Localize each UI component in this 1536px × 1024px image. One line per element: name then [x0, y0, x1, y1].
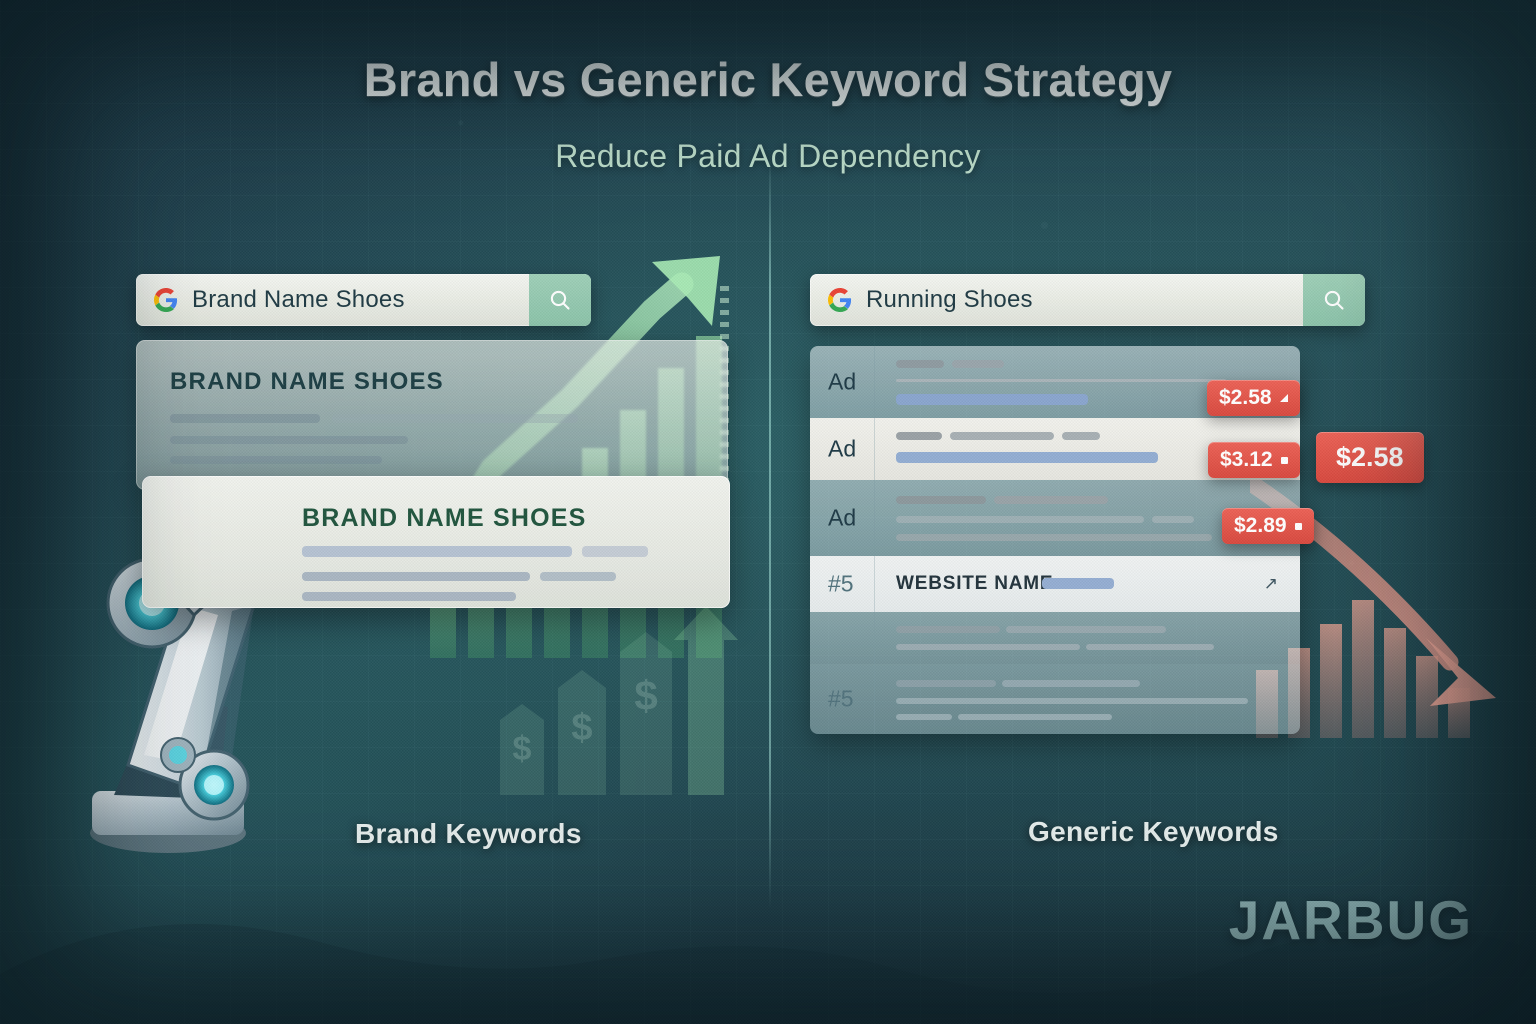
serp-row-tag: Ad [828, 505, 856, 532]
svg-text:$: $ [513, 730, 532, 768]
skeleton-line [302, 572, 530, 581]
serp-row-tag: #5 [828, 686, 854, 713]
floating-price-badge: $2.58 [1316, 432, 1424, 483]
skeleton-line [896, 379, 1226, 382]
trend-triangle-icon [1280, 394, 1288, 402]
skeleton-line [170, 436, 408, 444]
trend-dot-icon [1295, 523, 1302, 530]
row-divider [874, 418, 875, 480]
skeleton-line [896, 516, 1144, 523]
row-divider [874, 556, 875, 612]
skeleton-line [302, 592, 516, 601]
price-value: $2.58 [1219, 386, 1272, 410]
google-logo-icon [154, 288, 178, 312]
skeleton-line [1062, 432, 1100, 440]
row-divider [874, 612, 875, 664]
trend-dot-icon [1281, 457, 1288, 464]
skeleton-line [950, 432, 1054, 440]
generic-keywords-label: Generic Keywords [1028, 816, 1279, 848]
brand-result-title-2: BRAND NAME SHOES [302, 504, 587, 533]
page-subtitle: Reduce Paid Ad Dependency [0, 138, 1536, 175]
price-value: $2.58 [1336, 442, 1404, 473]
google-logo-icon [828, 288, 852, 312]
skeleton-line [896, 496, 986, 504]
skeleton-line [896, 452, 1158, 463]
brand-result-card-2[interactable]: BRAND NAME SHOES [142, 476, 730, 608]
generic-search-button[interactable] [1303, 274, 1365, 326]
skeleton-line [896, 644, 1080, 650]
skeleton-line [1086, 644, 1214, 650]
skeleton-line [896, 432, 942, 440]
svg-text:$: $ [571, 707, 592, 749]
skeleton-line [170, 456, 382, 464]
skeleton-line [1042, 578, 1114, 589]
skeleton-line [896, 680, 996, 687]
price-badge-ad-2: $3.12 [1208, 442, 1300, 478]
serp-row-tag: Ad [828, 436, 856, 463]
skeleton-line [994, 496, 1108, 504]
skeleton-line [952, 360, 1004, 368]
ad-spend-chart-decoration: $ $ $ [460, 600, 760, 800]
brand-search-bar[interactable]: Brand Name Shoes [136, 274, 591, 326]
page-title: Brand vs Generic Keyword Strategy [0, 52, 1536, 107]
row-divider [874, 664, 875, 734]
price-badge-ad-1: $2.58 [1207, 380, 1300, 416]
skeleton-line [582, 546, 648, 557]
infographic-canvas: $ $ $ [0, 0, 1536, 1024]
skeleton-line [896, 534, 1212, 541]
brand-keywords-label: Brand Keywords [355, 818, 582, 850]
serp-row-tag: #5 [828, 571, 854, 598]
skeleton-line [896, 626, 1000, 633]
skeleton-line [896, 698, 1248, 704]
skeleton-line [1152, 516, 1194, 523]
brand-result-title-1: BRAND NAME SHOES [170, 368, 444, 396]
brand-search-button[interactable] [529, 274, 591, 326]
skeleton-line [332, 414, 578, 423]
skeleton-line [896, 360, 944, 368]
brand-result-card-1[interactable]: BRAND NAME SHOES [136, 340, 728, 490]
serp-website-name: WEBSITE NAME [896, 573, 1053, 595]
search-icon [548, 288, 572, 312]
skeleton-line [540, 572, 616, 581]
row-divider [874, 346, 875, 418]
generic-search-query[interactable]: Running Shoes [866, 286, 1033, 314]
price-value: $2.89 [1234, 514, 1287, 538]
external-link-icon[interactable]: ↗ [1264, 574, 1278, 594]
price-value: $3.12 [1220, 448, 1273, 472]
serp-row-body-1 [810, 612, 1300, 664]
generic-search-bar[interactable]: Running Shoes [810, 274, 1365, 326]
skeleton-line [896, 714, 952, 720]
brand-search-query[interactable]: Brand Name Shoes [192, 286, 405, 314]
jarbug-logo: JARBUG [1229, 888, 1473, 952]
price-badge-ad-3: $2.89 [1222, 508, 1314, 544]
skeleton-line [1002, 680, 1140, 687]
serp-row-tag: Ad [828, 369, 856, 396]
svg-text:$: $ [634, 672, 657, 719]
search-icon [1322, 288, 1346, 312]
skeleton-line [1006, 626, 1166, 633]
row-divider [874, 480, 875, 556]
skeleton-line [896, 394, 1088, 405]
panel-divider [769, 150, 771, 910]
skeleton-line [302, 546, 572, 557]
skeleton-line [170, 414, 320, 423]
skeleton-line [958, 714, 1112, 720]
serp-row-organic-2[interactable]: #5 [810, 664, 1300, 734]
serp-row-organic-1[interactable]: #5 WEBSITE NAME ↗ [810, 556, 1300, 612]
